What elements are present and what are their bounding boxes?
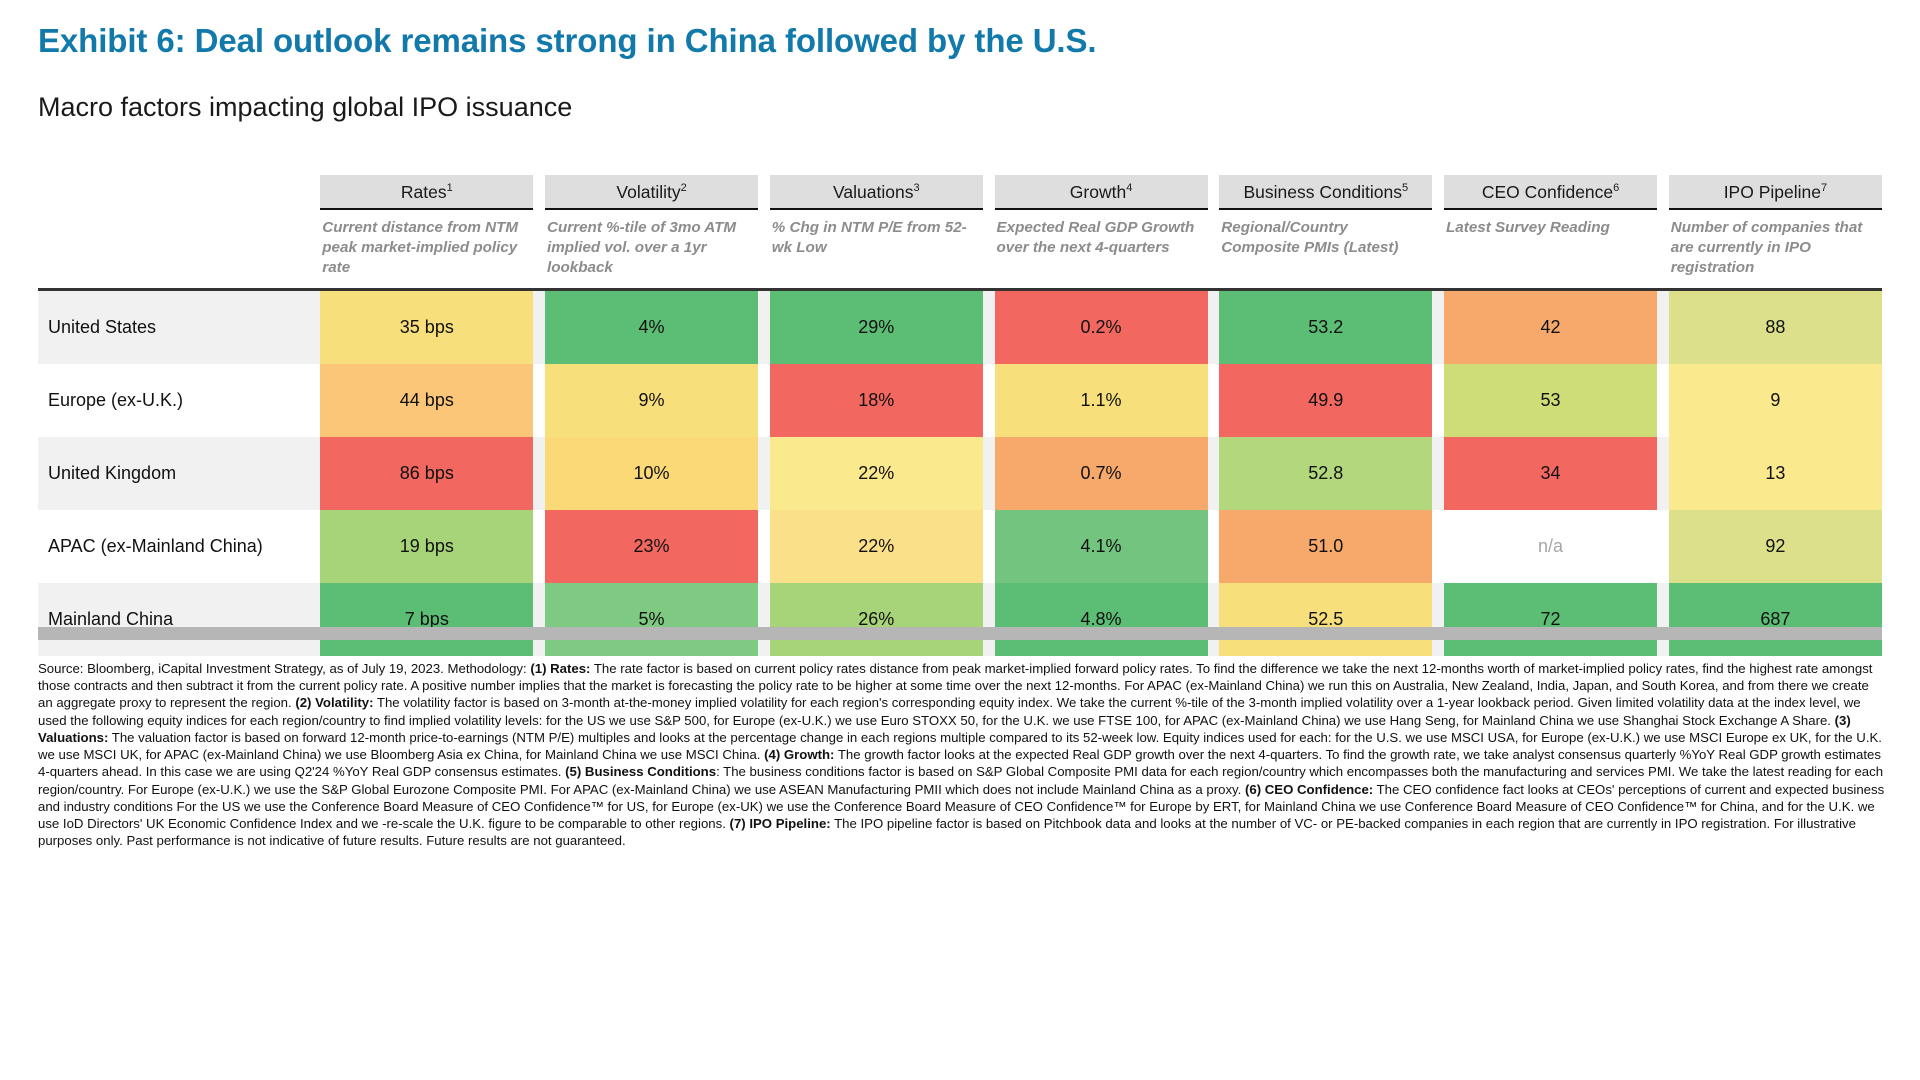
cell-gap	[1208, 364, 1220, 437]
column-header-chip: Valuations3	[770, 175, 983, 210]
heatmap-cell-r3-c2: 22%	[770, 510, 983, 583]
desc-corner	[38, 210, 309, 288]
heatmap-cell-r4-c6: 687	[1669, 583, 1882, 656]
cell-gap	[983, 583, 995, 656]
heatmap-cell-r1-c0: 44 bps	[320, 364, 533, 437]
heatmap-cell-r0-c0: 35 bps	[320, 291, 533, 364]
row-label-4: Mainland China	[38, 583, 309, 656]
heatmap-cell-r0-c5: 42	[1444, 291, 1657, 364]
desc-gap	[533, 210, 545, 288]
header-corner	[38, 175, 309, 210]
cell-gap	[983, 510, 995, 583]
column-header-5: CEO Confidence6	[1444, 175, 1657, 210]
table-header-chips: Rates1Volatility2Valuations3Growth4Busin…	[38, 175, 1882, 210]
column-description-0: Current distance from NTM peak market-im…	[320, 210, 533, 288]
heatmap-cell-r2-c5: 34	[1444, 437, 1657, 510]
column-description-text: Expected Real GDP Growth over the next 4…	[997, 218, 1204, 258]
column-description-2: % Chg in NTM P/E from 52-wk Low	[770, 210, 983, 288]
cell-gap	[1208, 583, 1220, 656]
heatmap-cell-r3-c1: 23%	[545, 510, 758, 583]
heatmap-cell-r3-c0: 19 bps	[320, 510, 533, 583]
footnote-marker: 1	[447, 182, 453, 194]
column-header-1: Volatility2	[545, 175, 758, 210]
row-label-0: United States	[38, 291, 309, 364]
header-gap	[1208, 175, 1220, 210]
cell-gap	[309, 364, 321, 437]
table-row: United States35 bps4%29%0.2%53.24288	[38, 291, 1882, 364]
footnote-marker: 4	[1126, 182, 1132, 194]
cell-gap	[758, 510, 770, 583]
footnote-marker: 7	[1821, 182, 1827, 194]
heatmap-cell-r0-c1: 4%	[545, 291, 758, 364]
header-gap	[1657, 175, 1669, 210]
cell-gap	[533, 437, 545, 510]
column-header-chip: Growth4	[995, 175, 1208, 210]
table-row: Europe (ex-U.K.)44 bps9%18%1.1%49.9539	[38, 364, 1882, 437]
heatmap-cell-r4-c1: 5%	[545, 583, 758, 656]
column-description-text: Regional/Country Composite PMIs (Latest)	[1221, 218, 1428, 258]
column-description-text: Current distance from NTM peak market-im…	[322, 218, 529, 278]
cell-gap	[309, 510, 321, 583]
heatmap-cell-r1-c3: 1.1%	[995, 364, 1208, 437]
heatmap-cell-r2-c2: 22%	[770, 437, 983, 510]
heatmap-cell-r1-c6: 9	[1669, 364, 1882, 437]
header-gap	[309, 175, 321, 210]
cell-gap	[983, 291, 995, 364]
column-header-chip: Rates1	[320, 175, 533, 210]
heatmap-cell-r1-c5: 53	[1444, 364, 1657, 437]
cell-gap	[1432, 364, 1444, 437]
column-header-chip: IPO Pipeline7	[1669, 175, 1882, 210]
column-header-chip: Volatility2	[545, 175, 758, 210]
cell-gap	[1657, 583, 1669, 656]
heatmap-cell-r0-c4: 53.2	[1219, 291, 1432, 364]
cell-gap	[309, 291, 321, 364]
column-description-text: Number of companies that are currently i…	[1671, 218, 1878, 278]
cell-gap	[1432, 437, 1444, 510]
header-gap	[533, 175, 545, 210]
footnote-marker: 2	[681, 182, 687, 194]
desc-gap	[758, 210, 770, 288]
column-description-text: Latest Survey Reading	[1446, 218, 1653, 238]
cell-gap	[1208, 291, 1220, 364]
table-row: Mainland China7 bps5%26%4.8%52.572687	[38, 583, 1882, 656]
heatmap-cell-r2-c3: 0.7%	[995, 437, 1208, 510]
table-header-descriptions: Current distance from NTM peak market-im…	[38, 210, 1882, 288]
header-gap	[758, 175, 770, 210]
cell-gap	[1657, 364, 1669, 437]
heatmap-cell-r3-c4: 51.0	[1219, 510, 1432, 583]
exhibit-page: Exhibit 6: Deal outlook remains strong i…	[0, 0, 1920, 1080]
cell-gap	[309, 437, 321, 510]
cell-gap	[533, 291, 545, 364]
cell-gap	[758, 364, 770, 437]
desc-gap	[1432, 210, 1444, 288]
heatmap-cell-r3-c3: 4.1%	[995, 510, 1208, 583]
heatmap-cell-r3-c6: 92	[1669, 510, 1882, 583]
row-label-1: Europe (ex-U.K.)	[38, 364, 309, 437]
heatmap-cell-r0-c6: 88	[1669, 291, 1882, 364]
column-description-1: Current %-tile of 3mo ATM implied vol. o…	[545, 210, 758, 288]
column-header-chip: Business Conditions5	[1219, 175, 1432, 210]
heatmap-cell-r1-c1: 9%	[545, 364, 758, 437]
source-footnotes: Source: Bloomberg, iCapital Investment S…	[38, 660, 1885, 849]
column-header-4: Business Conditions5	[1219, 175, 1432, 210]
column-header-2: Valuations3	[770, 175, 983, 210]
macro-factors-table: Rates1Volatility2Valuations3Growth4Busin…	[38, 175, 1882, 656]
cell-gap	[758, 583, 770, 656]
desc-gap	[309, 210, 321, 288]
row-label-2: United Kingdom	[38, 437, 309, 510]
column-header-6: IPO Pipeline7	[1669, 175, 1882, 210]
cell-gap	[309, 583, 321, 656]
cell-gap	[1432, 291, 1444, 364]
desc-gap	[983, 210, 995, 288]
cell-gap	[1432, 510, 1444, 583]
column-description-5: Latest Survey Reading	[1444, 210, 1657, 288]
column-header-0: Rates1	[320, 175, 533, 210]
header-gap	[1432, 175, 1444, 210]
heatmap-cell-r4-c0: 7 bps	[320, 583, 533, 656]
column-description-text: % Chg in NTM P/E from 52-wk Low	[772, 218, 979, 258]
heatmap-cell-r1-c2: 18%	[770, 364, 983, 437]
cell-gap	[533, 364, 545, 437]
cell-gap	[1657, 291, 1669, 364]
heatmap-cell-r1-c4: 49.9	[1219, 364, 1432, 437]
page-subtitle: Macro factors impacting global IPO issua…	[38, 92, 572, 123]
heatmap-cell-r2-c6: 13	[1669, 437, 1882, 510]
row-label-3: APAC (ex-Mainland China)	[38, 510, 309, 583]
heatmap-cell-r2-c4: 52.8	[1219, 437, 1432, 510]
heatmap-cell-r3-c5: n/a	[1444, 510, 1657, 583]
cell-gap	[533, 583, 545, 656]
heatmap-cell-r4-c5: 72	[1444, 583, 1657, 656]
heatmap-cell-r4-c2: 26%	[770, 583, 983, 656]
cell-gap	[533, 510, 545, 583]
column-description-4: Regional/Country Composite PMIs (Latest)	[1219, 210, 1432, 288]
heatmap-cell-r2-c0: 86 bps	[320, 437, 533, 510]
column-header-chip: CEO Confidence6	[1444, 175, 1657, 210]
footnote-marker: 3	[913, 182, 919, 194]
column-description-6: Number of companies that are currently i…	[1669, 210, 1882, 288]
cell-gap	[1432, 583, 1444, 656]
desc-gap	[1208, 210, 1220, 288]
cell-gap	[983, 437, 995, 510]
cell-gap	[758, 437, 770, 510]
column-description-3: Expected Real GDP Growth over the next 4…	[995, 210, 1208, 288]
cell-gap	[1208, 437, 1220, 510]
table-bottom-bar	[38, 627, 1882, 640]
footnote-marker: 6	[1613, 182, 1619, 194]
desc-gap	[1657, 210, 1669, 288]
table-row: APAC (ex-Mainland China)19 bps23%22%4.1%…	[38, 510, 1882, 583]
table-row: United Kingdom86 bps10%22%0.7%52.83413	[38, 437, 1882, 510]
cell-gap	[1657, 437, 1669, 510]
heatmap-cell-r0-c2: 29%	[770, 291, 983, 364]
header-gap	[983, 175, 995, 210]
heatmap-cell-r2-c1: 10%	[545, 437, 758, 510]
cell-gap	[983, 364, 995, 437]
column-description-text: Current %-tile of 3mo ATM implied vol. o…	[547, 218, 754, 278]
heatmap-cell-r4-c3: 4.8%	[995, 583, 1208, 656]
heatmap-cell-r0-c3: 0.2%	[995, 291, 1208, 364]
footnote-marker: 5	[1402, 182, 1408, 194]
cell-gap	[758, 291, 770, 364]
cell-gap	[1657, 510, 1669, 583]
heatmap-cell-r4-c4: 52.5	[1219, 583, 1432, 656]
column-header-3: Growth4	[995, 175, 1208, 210]
cell-gap	[1208, 510, 1220, 583]
page-title: Exhibit 6: Deal outlook remains strong i…	[38, 22, 1096, 60]
